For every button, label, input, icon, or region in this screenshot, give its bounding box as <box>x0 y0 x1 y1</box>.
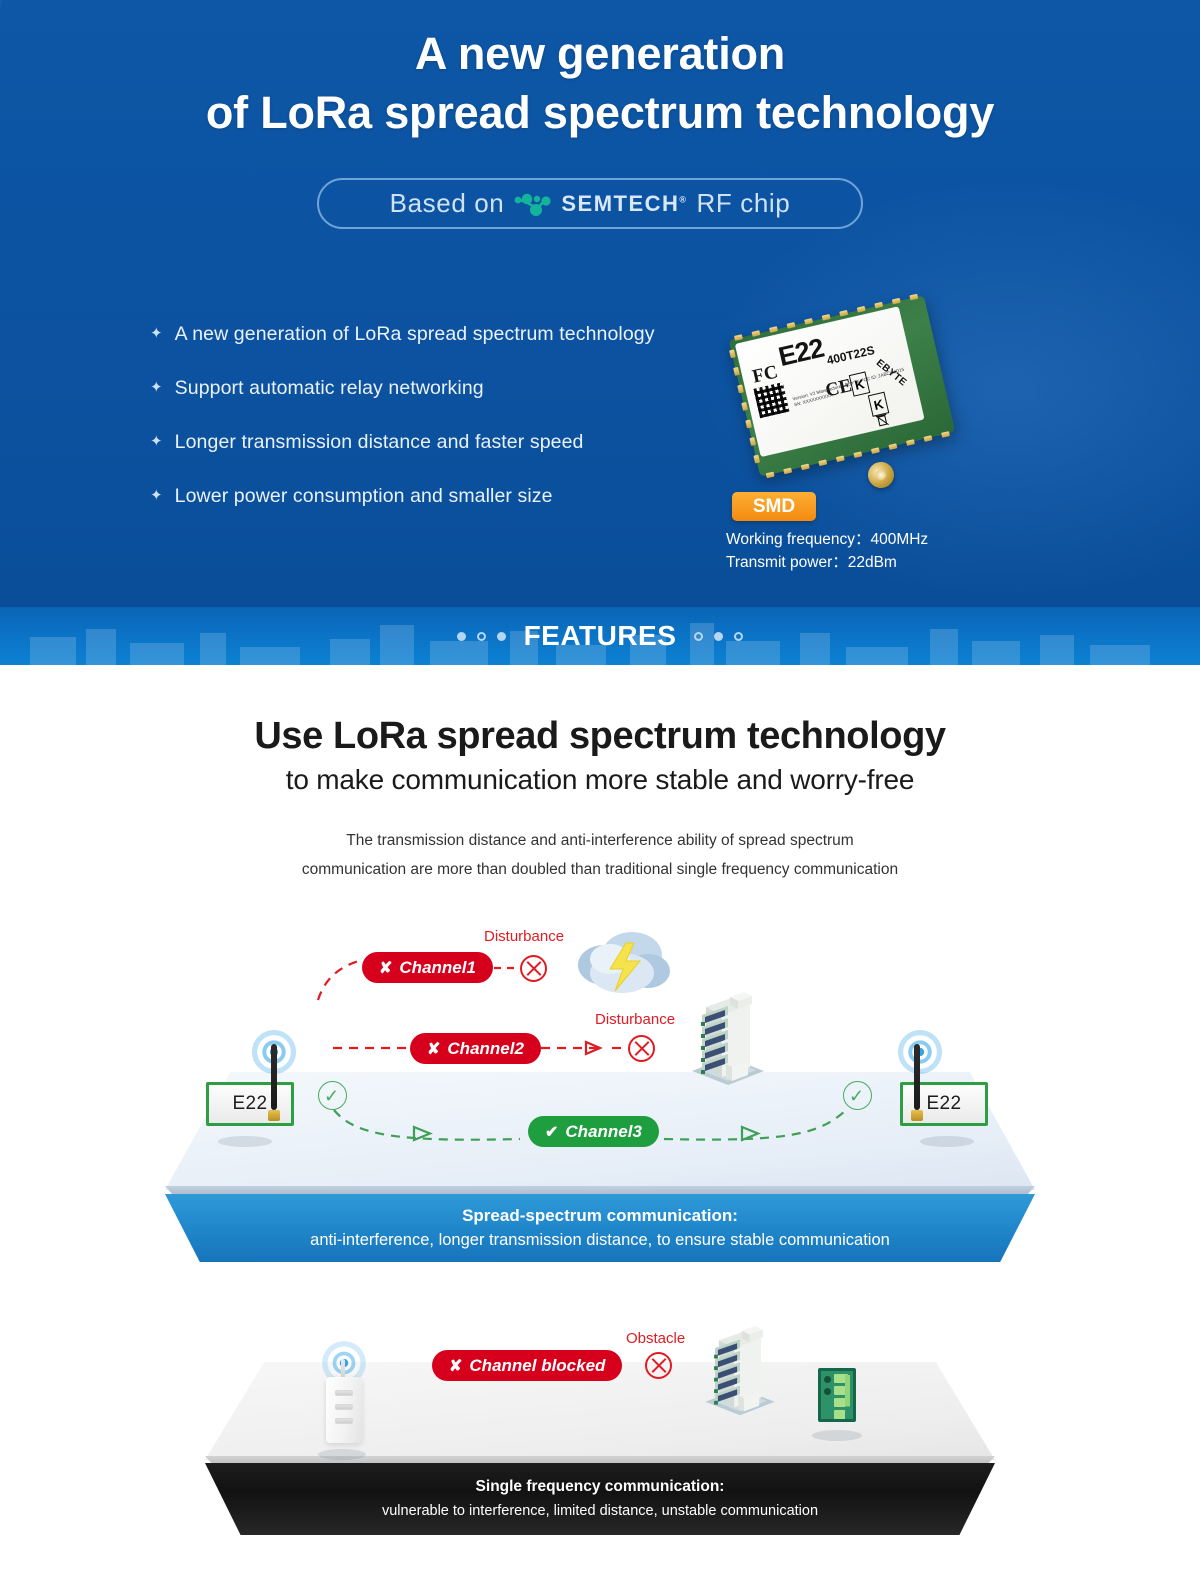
spread-spectrum-caption-banner: Spread-spectrum communication: anti-inte… <box>165 1194 1035 1262</box>
spec-frequency-label: Working frequency： <box>726 531 870 548</box>
blocked-circle-icon <box>520 955 547 982</box>
channel-badge-2: ✘ Channel2 <box>410 1033 541 1064</box>
ipex-antenna-connector-icon <box>865 459 896 490</box>
channel-badge-1: ✘ Channel1 <box>362 952 493 983</box>
banner-line-1: Spread-spectrum communication: <box>462 1204 738 1228</box>
list-item: ✦ Longer transmission distance and faste… <box>150 430 750 454</box>
semtech-wordmark: SEMTECH® <box>561 191 687 217</box>
badge-prefix-label: Based on <box>390 188 505 219</box>
module-model-suffix-text: 400T22S <box>825 343 876 368</box>
features-section-band: FEATURES <box>0 607 1200 665</box>
badge-suffix-label: RF chip <box>697 188 791 219</box>
bullet-text: Support automatic relay networking <box>175 376 484 400</box>
channel-label: Channel2 <box>447 1039 524 1059</box>
spec-power-value: 22dBm <box>848 554 897 571</box>
device-shadow <box>318 1449 366 1460</box>
module-spec-list: Working frequency：400MHz Transmit power：… <box>726 528 928 574</box>
disturbance-label-2: Disturbance <box>595 1011 675 1028</box>
diamond-bullet-icon: ✦ <box>150 322 163 346</box>
decorative-dots-right <box>694 632 743 641</box>
semtech-chip-badge: Based on SEMTECH® RF chip <box>317 178 863 229</box>
hero-title: A new generation of LoRa spread spectrum… <box>0 24 1200 143</box>
list-item: ✦ Lower power consumption and smaller si… <box>150 484 750 508</box>
device-shadow <box>812 1430 862 1441</box>
bullet-text: Longer transmission distance and faster … <box>175 430 584 454</box>
description-line-2: communication are more than doubled than… <box>0 855 1200 884</box>
channel-label: Channel3 <box>565 1122 642 1142</box>
device-body: E22 <box>206 1082 294 1126</box>
dot-icon <box>497 632 506 641</box>
check-glyph: ✓ <box>324 1084 339 1109</box>
dot-icon <box>477 632 486 641</box>
cross-mark-icon: ✘ <box>449 1356 462 1376</box>
decorative-dots-left <box>457 632 506 641</box>
channel-label: Channel1 <box>399 958 476 978</box>
device-slot <box>335 1390 353 1396</box>
channel-blocked-badge: ✘ Channel blocked <box>432 1350 622 1381</box>
blocked-circle-icon <box>645 1352 672 1379</box>
antenna-base-icon <box>268 1110 280 1121</box>
cross-mark-icon: ✘ <box>427 1039 440 1059</box>
spread-diagram-platform-edge <box>165 1186 1035 1194</box>
list-item: ✦ Support automatic relay networking <box>150 376 750 400</box>
check-circle-icon: ✓ <box>318 1081 347 1110</box>
page-title: Use LoRa spread spectrum technology <box>0 715 1200 758</box>
page-description: The transmission distance and anti-inter… <box>0 826 1200 884</box>
hero-section: A new generation of LoRa spread spectrum… <box>0 0 1200 607</box>
status-badge: SMD <box>732 492 816 521</box>
hero-title-line1: A new generation <box>415 28 785 79</box>
device-shadow <box>218 1136 272 1147</box>
main-content: Use LoRa spread spectrum technology to m… <box>0 665 1200 884</box>
spec-row-power: Transmit power：22dBm <box>726 551 928 574</box>
obstacle-label: Obstacle <box>626 1330 685 1347</box>
device-white-pillar <box>324 1373 364 1453</box>
office-building-icon <box>692 1318 788 1426</box>
dot-icon <box>694 632 703 641</box>
product-feature-page: A new generation of LoRa spread spectrum… <box>0 0 1200 1586</box>
device-slot <box>335 1418 353 1424</box>
section-heading: FEATURES <box>524 620 677 652</box>
semtech-logo: SEMTECH® <box>513 189 687 219</box>
spec-power-label: Transmit power： <box>726 554 848 571</box>
pcb-board: E22 400T22S FC CE Version: V2 Manufactur… <box>729 295 955 476</box>
diamond-bullet-icon: ✦ <box>150 376 163 400</box>
diamond-bullet-icon: ✦ <box>150 484 163 508</box>
check-glyph: ✓ <box>849 1084 864 1109</box>
check-circle-icon: ✓ <box>843 1081 872 1110</box>
hero-feature-bullet-list: ✦ A new generation of LoRa spread spectr… <box>150 322 750 508</box>
banner-line-1: Single frequency communication: <box>476 1475 725 1499</box>
dot-icon <box>734 632 743 641</box>
diamond-bullet-icon: ✦ <box>150 430 163 454</box>
module-model-text: E22 <box>776 333 827 373</box>
device-e22-right: E22 <box>900 1082 988 1126</box>
channel-label: Channel blocked <box>469 1356 605 1376</box>
spec-row-frequency: Working frequency：400MHz <box>726 528 928 551</box>
disturbance-label-1: Disturbance <box>484 928 564 945</box>
device-label: E22 <box>232 1093 267 1115</box>
device-e22-left: E22 <box>206 1082 294 1126</box>
qr-code-icon <box>753 382 789 418</box>
antenna-icon <box>341 1359 345 1379</box>
dot-icon <box>457 632 466 641</box>
device-body <box>326 1377 362 1443</box>
features-band-content: FEATURES <box>457 620 744 652</box>
single-frequency-caption-banner: Single frequency communication: vulnerab… <box>205 1463 995 1535</box>
device-shadow <box>920 1136 974 1147</box>
pcb-connector-bar <box>845 1375 850 1419</box>
hero-title-line2: of LoRa spread spectrum technology <box>0 83 1200 142</box>
cross-mark-icon: ✘ <box>379 958 392 978</box>
bullet-text: A new generation of LoRa spread spectrum… <box>175 322 655 346</box>
storm-cloud-icon <box>570 925 674 997</box>
dot-icon <box>714 632 723 641</box>
device-slot <box>335 1404 353 1410</box>
spec-frequency-value: 400MHz <box>870 531 928 548</box>
pcb-circle <box>824 1376 831 1383</box>
pcb-circle <box>824 1388 831 1395</box>
list-item: ✦ A new generation of LoRa spread spectr… <box>150 322 750 346</box>
weee-bin-icon <box>874 412 890 429</box>
office-building-icon <box>678 985 778 1095</box>
kc-mark-icon: K <box>849 371 871 396</box>
blocked-circle-icon <box>628 1035 655 1062</box>
channel-badge-3: ✔ Channel3 <box>528 1116 659 1147</box>
page-subtitle: to make communication more stable and wo… <box>0 764 1200 796</box>
module-product-image: E22 400T22S FC CE Version: V2 Manufactur… <box>726 312 986 572</box>
antenna-icon <box>914 1044 920 1110</box>
description-line-1: The transmission distance and anti-inter… <box>0 826 1200 855</box>
green-pcb-icon <box>818 1368 856 1422</box>
banner-line-2: anti-interference, longer transmission d… <box>310 1228 890 1253</box>
bullet-text: Lower power consumption and smaller size <box>175 484 553 508</box>
semtech-molecule-icon <box>513 189 555 219</box>
antenna-base-icon <box>911 1110 923 1121</box>
antenna-icon <box>271 1044 277 1110</box>
check-mark-icon: ✔ <box>545 1122 558 1142</box>
signal-wave-icon <box>892 1024 948 1080</box>
device-label: E22 <box>926 1093 961 1115</box>
banner-line-2: vulnerable to interference, limited dist… <box>382 1499 818 1524</box>
